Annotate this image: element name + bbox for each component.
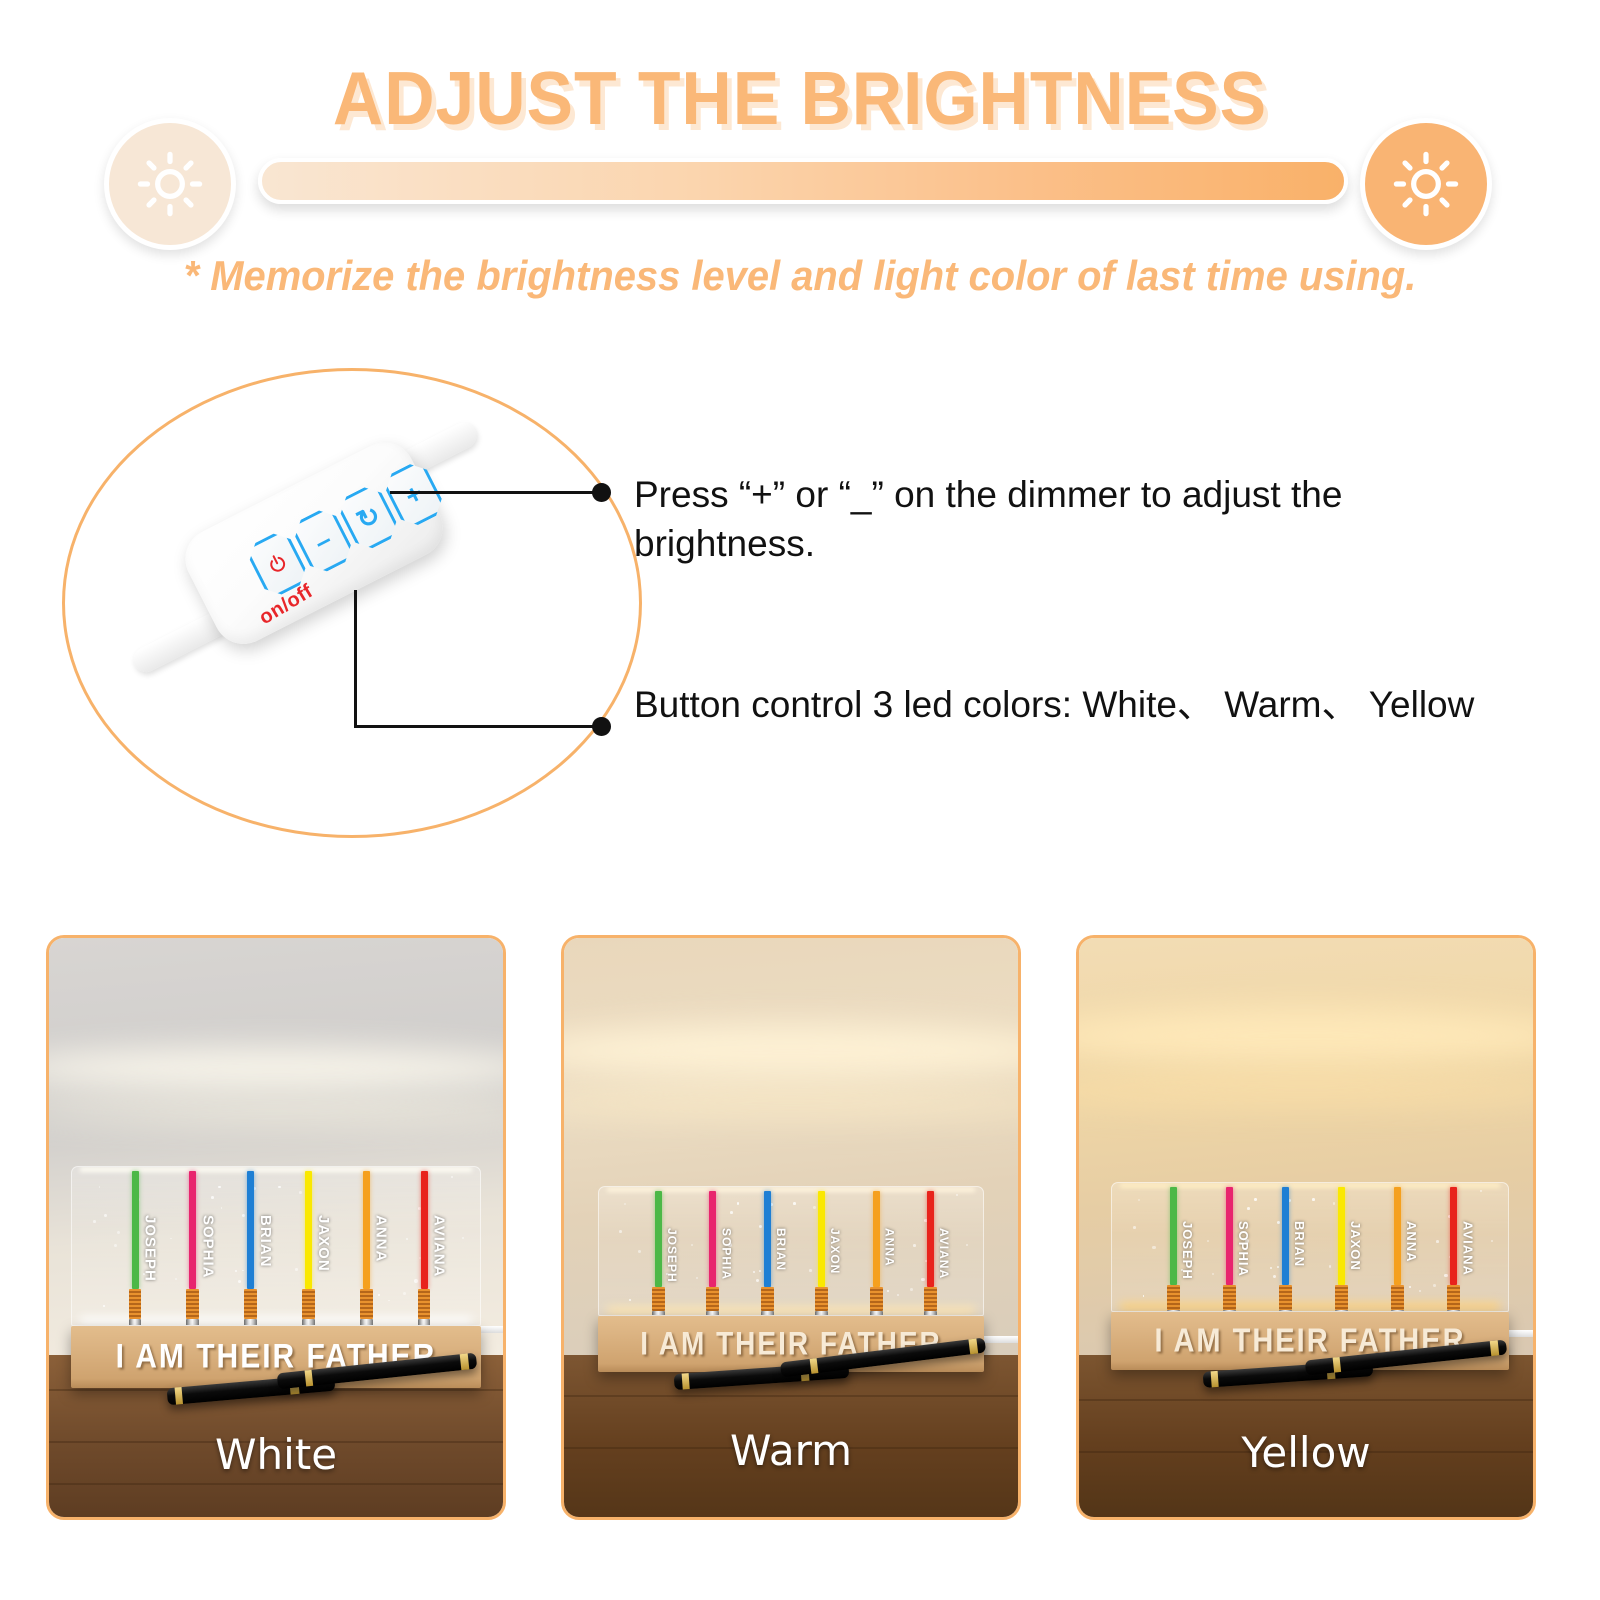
product-photo-yellow: JOSEPHSOPHIABRIANJAXONANNAAVIANA I AM TH… xyxy=(1079,938,1533,1517)
sparkle xyxy=(238,1280,241,1283)
sparkle xyxy=(103,1305,105,1307)
hilt-grip xyxy=(1223,1285,1236,1310)
saber-hilt xyxy=(129,1289,142,1326)
header-section: ADJUST THE BRIGHTNESS * Memorize the bri… xyxy=(0,0,1600,320)
hilt-grip xyxy=(244,1289,257,1319)
sparkle xyxy=(1277,1266,1279,1268)
saber-blade xyxy=(421,1171,428,1289)
panel-label-white: White xyxy=(49,1430,503,1479)
sparkle xyxy=(897,1294,899,1296)
saber-name-label: ANNA xyxy=(1404,1221,1419,1263)
hilt-grip xyxy=(1391,1285,1404,1310)
lightsaber: JAXON xyxy=(305,1171,312,1326)
callout-text-led-colors: Button control 3 led colors: White、 Warm… xyxy=(634,680,1514,729)
saber-hilt xyxy=(418,1289,431,1326)
sparkle xyxy=(1207,1240,1209,1242)
saber-name-label: SOPHIA xyxy=(719,1228,733,1280)
sparkle xyxy=(406,1238,409,1241)
hilt-grip xyxy=(418,1289,431,1319)
lightsaber: JOSEPH xyxy=(1170,1187,1177,1312)
callout-dot-2 xyxy=(592,717,611,736)
saber-blade xyxy=(927,1191,934,1287)
saber-hilt xyxy=(1223,1285,1236,1312)
sparkle xyxy=(759,1225,762,1228)
saber-hilt xyxy=(360,1289,373,1326)
saber-hilt xyxy=(1167,1285,1180,1312)
saber-name-label: JOSEPH xyxy=(665,1228,679,1283)
panel-label-yellow: Yellow xyxy=(1079,1428,1533,1477)
sparkle xyxy=(629,1299,631,1301)
preview-panel-warm[interactable]: JOSEPHSOPHIABRIANJAXONANNAAVIANA I AM TH… xyxy=(561,935,1021,1520)
lightsaber: JOSEPH xyxy=(655,1191,662,1316)
lightsaber: SOPHIA xyxy=(709,1191,716,1316)
saber-hilt xyxy=(815,1287,828,1316)
saber-blade xyxy=(305,1171,312,1289)
saber-blade xyxy=(132,1171,139,1289)
sparkle xyxy=(1277,1221,1280,1224)
saber-blade xyxy=(818,1191,825,1287)
sparkle xyxy=(638,1250,641,1253)
saber-blade xyxy=(709,1191,716,1287)
saber-name-label: AVIANA xyxy=(431,1215,448,1277)
lightsaber: ANNA xyxy=(873,1191,880,1316)
hilt-body xyxy=(186,1319,199,1326)
saber-name-label: JOSEPH xyxy=(1180,1221,1195,1280)
dimmer-section: – ↻ + on/off xyxy=(0,340,1600,900)
page-title: ADJUST THE BRIGHTNESS xyxy=(56,55,1544,141)
product-photo-warm: JOSEPHSOPHIABRIANJAXONANNAAVIANA I AM TH… xyxy=(564,938,1018,1517)
sparkle xyxy=(235,1270,237,1272)
sparkle xyxy=(1143,1295,1145,1297)
callout-line-2-horiz xyxy=(354,725,605,728)
sparkle xyxy=(1152,1246,1155,1249)
power-icon xyxy=(263,549,293,579)
saber-blade xyxy=(655,1191,662,1287)
sparkle xyxy=(913,1244,916,1247)
sparkle xyxy=(1133,1226,1136,1229)
hilt-grip xyxy=(706,1287,719,1311)
saber-blade xyxy=(1394,1187,1401,1285)
lightsaber: JAXON xyxy=(818,1191,825,1316)
sparkle xyxy=(809,1269,812,1272)
sparkle xyxy=(211,1196,214,1199)
sparkle xyxy=(295,1268,298,1271)
sparkle xyxy=(414,1279,418,1283)
sparkle xyxy=(921,1278,925,1282)
product-photo-white: JOSEPHSOPHIABRIANJAXONANNAAVIANA I AM TH… xyxy=(49,938,503,1517)
hilt-grip xyxy=(870,1287,883,1311)
saber-blade xyxy=(1450,1187,1457,1285)
brightness-low-badge xyxy=(104,118,236,250)
hilt-grip xyxy=(761,1287,774,1311)
saber-hilt xyxy=(1391,1285,1404,1312)
lightsaber: ANNA xyxy=(363,1171,370,1326)
lightsaber: BRIAN xyxy=(247,1171,254,1326)
acrylic-panel: JOSEPHSOPHIABRIANJAXONANNAAVIANA xyxy=(598,1186,984,1316)
saber-hilt xyxy=(1447,1285,1460,1312)
callout-line-2-vert xyxy=(354,590,357,728)
callout-dot-1 xyxy=(592,483,611,502)
hilt-grip xyxy=(129,1289,142,1319)
sparkle xyxy=(1444,1274,1448,1278)
sparkle xyxy=(388,1300,390,1302)
sparkle xyxy=(1436,1240,1439,1243)
panel-label-warm: Warm xyxy=(564,1426,1018,1475)
sparkle xyxy=(175,1278,177,1280)
saber-blade xyxy=(1170,1187,1177,1285)
sparkle xyxy=(887,1290,889,1292)
saber-name-label: SOPHIA xyxy=(199,1215,216,1279)
hilt-grip xyxy=(924,1287,937,1311)
saber-hilt xyxy=(706,1287,719,1316)
sparkle xyxy=(1433,1284,1436,1287)
acrylic-panel: JOSEPHSOPHIABRIANJAXONANNAAVIANA xyxy=(71,1166,481,1326)
hilt-body xyxy=(129,1319,142,1326)
sparkle xyxy=(696,1277,698,1279)
sparkle xyxy=(462,1237,464,1239)
sparkle xyxy=(378,1294,380,1296)
callout-text-brightness: Press “+” or “_” on the dimmer to adjust… xyxy=(634,470,1514,568)
sparkle xyxy=(218,1186,220,1188)
sparkle xyxy=(1270,1267,1272,1269)
hilt-grip xyxy=(1335,1285,1348,1310)
saber-hilt xyxy=(244,1289,257,1326)
saber-blade xyxy=(1282,1187,1289,1285)
sparkle xyxy=(104,1214,107,1217)
sparkle xyxy=(93,1220,96,1223)
sparkle xyxy=(451,1176,453,1178)
saber-blade xyxy=(764,1191,771,1287)
saber-name-label: JAXON xyxy=(828,1228,842,1274)
sun-icon xyxy=(133,147,207,221)
lightsaber: SOPHIA xyxy=(1226,1187,1233,1312)
hilt-grip xyxy=(360,1289,373,1319)
saber-blade xyxy=(1338,1187,1345,1285)
sparkle xyxy=(691,1244,693,1246)
hilt-body xyxy=(244,1319,257,1326)
sparkle xyxy=(1138,1199,1140,1201)
saber-name-label: ANNA xyxy=(373,1215,390,1262)
saber-hilt xyxy=(924,1287,937,1316)
sparkle xyxy=(1480,1190,1482,1192)
saber-blade xyxy=(873,1191,880,1287)
sparkle xyxy=(756,1279,759,1282)
brightness-high-badge xyxy=(1360,118,1492,250)
sparkle xyxy=(1491,1240,1493,1242)
sparkle xyxy=(793,1202,796,1205)
preview-panel-yellow[interactable]: JOSEPHSOPHIABRIANJAXONANNAAVIANA I AM TH… xyxy=(1076,935,1536,1520)
saber-name-label: BRIAN xyxy=(257,1215,274,1268)
hilt-grip xyxy=(1279,1285,1292,1310)
sparkle xyxy=(966,1244,968,1246)
saber-hilt xyxy=(1279,1285,1292,1312)
sparkle xyxy=(403,1292,406,1295)
sparkle xyxy=(624,1203,626,1205)
sparkle xyxy=(117,1231,120,1234)
sparkle xyxy=(1419,1290,1421,1292)
sparkle xyxy=(170,1238,172,1240)
acrylic-panel: JOSEPHSOPHIABRIANJAXONANNAAVIANA xyxy=(1111,1182,1509,1312)
saber-hilt xyxy=(186,1289,199,1326)
lightsaber: BRIAN xyxy=(764,1191,771,1316)
saber-blade xyxy=(363,1171,370,1289)
sparkle xyxy=(737,1202,739,1204)
sparkle xyxy=(730,1211,733,1214)
hilt-grip xyxy=(1447,1285,1460,1310)
sparkle xyxy=(1333,1202,1336,1205)
preview-panel-white[interactable]: JOSEPHSOPHIABRIANJAXONANNAAVIANA I AM TH… xyxy=(46,935,506,1520)
saber-hilt xyxy=(652,1287,665,1316)
color-preview-panels: JOSEPHSOPHIABRIANJAXONANNAAVIANA I AM TH… xyxy=(0,935,1600,1535)
saber-blade xyxy=(1226,1187,1233,1285)
sparkle xyxy=(299,1191,302,1194)
saber-name-label: ANNA xyxy=(883,1228,897,1267)
sparkle xyxy=(221,1207,223,1209)
sparkle xyxy=(1254,1198,1256,1200)
sparkle xyxy=(1273,1275,1276,1278)
lightsaber: AVIANA xyxy=(1450,1187,1457,1312)
hilt-grip xyxy=(1167,1285,1180,1310)
lightsaber: BRIAN xyxy=(1282,1187,1289,1312)
saber-name-label: JAXON xyxy=(1348,1221,1363,1271)
saber-hilt xyxy=(870,1287,883,1316)
sun-icon xyxy=(1389,147,1463,221)
hilt-body xyxy=(360,1319,373,1326)
sparkle xyxy=(813,1206,816,1209)
sparkle xyxy=(956,1194,958,1196)
saber-blade xyxy=(247,1171,254,1289)
lightsaber: AVIANA xyxy=(421,1171,428,1326)
lightsaber: JAXON xyxy=(1338,1187,1345,1312)
hilt-grip xyxy=(815,1287,828,1311)
lightsaber: SOPHIA xyxy=(189,1171,196,1326)
saber-name-label: AVIANA xyxy=(1460,1221,1475,1276)
sparkle xyxy=(1329,1265,1332,1268)
saber-name-label: BRIAN xyxy=(1292,1221,1307,1267)
hilt-body xyxy=(302,1319,315,1326)
sparkle xyxy=(619,1230,622,1233)
sparkle xyxy=(242,1270,244,1272)
sparkle xyxy=(278,1186,281,1189)
saber-name-label: BRIAN xyxy=(774,1228,788,1271)
lightsaber: AVIANA xyxy=(927,1191,934,1316)
brightness-slider[interactable] xyxy=(258,158,1348,204)
saber-blade xyxy=(189,1171,196,1289)
sparkle xyxy=(242,1214,245,1217)
saber-hilt xyxy=(302,1289,315,1326)
sparkle xyxy=(910,1288,913,1291)
saber-name-label: SOPHIA xyxy=(1236,1221,1251,1277)
saber-name-label: JAXON xyxy=(315,1215,332,1272)
hilt-grip xyxy=(186,1289,199,1319)
hilt-grip xyxy=(302,1289,315,1319)
sparkle xyxy=(1312,1198,1315,1201)
sparkle xyxy=(99,1186,101,1188)
saber-hilt xyxy=(1335,1285,1348,1312)
callout-line-1 xyxy=(390,491,605,494)
sparkle xyxy=(114,1244,117,1247)
memorize-note: * Memorize the brightness level and ligh… xyxy=(40,252,1560,300)
lightsaber: ANNA xyxy=(1394,1187,1401,1312)
sparkle xyxy=(753,1271,755,1273)
sparkle xyxy=(1409,1286,1411,1288)
hilt-body xyxy=(418,1319,431,1326)
sparkle xyxy=(1247,1207,1250,1210)
saber-name-label: AVIANA xyxy=(937,1228,951,1279)
sparkle xyxy=(759,1270,761,1272)
lightsaber: JOSEPH xyxy=(132,1171,139,1326)
saber-name-label: JOSEPH xyxy=(142,1215,159,1282)
saber-hilt xyxy=(761,1287,774,1316)
hilt-grip xyxy=(652,1287,665,1311)
sparkle xyxy=(1212,1273,1214,1275)
